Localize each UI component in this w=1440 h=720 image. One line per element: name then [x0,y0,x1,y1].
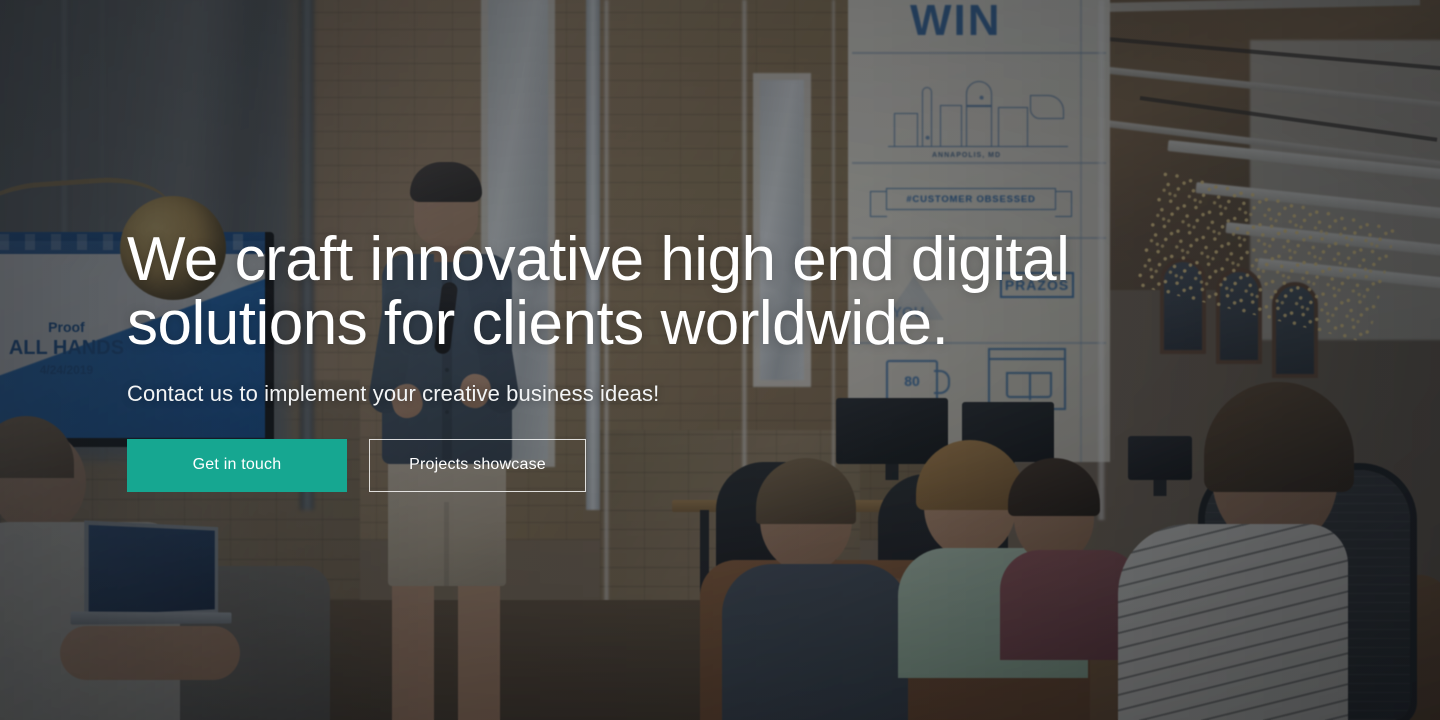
hero-content: We craft innovative high end digital sol… [127,0,1367,720]
projects-showcase-button[interactable]: Projects showcase [369,439,586,492]
hero-cta-row: Get in touch Projects showcase [127,439,1367,492]
hero-subheadline: Contact us to implement your creative bu… [127,381,1367,407]
hero-section: WIN ANNAPOLIS, MD #CUSTOMER OBSESSED YOU… [0,0,1440,720]
hero-headline: We craft innovative high end digital sol… [127,228,1187,354]
get-in-touch-button[interactable]: Get in touch [127,439,347,492]
